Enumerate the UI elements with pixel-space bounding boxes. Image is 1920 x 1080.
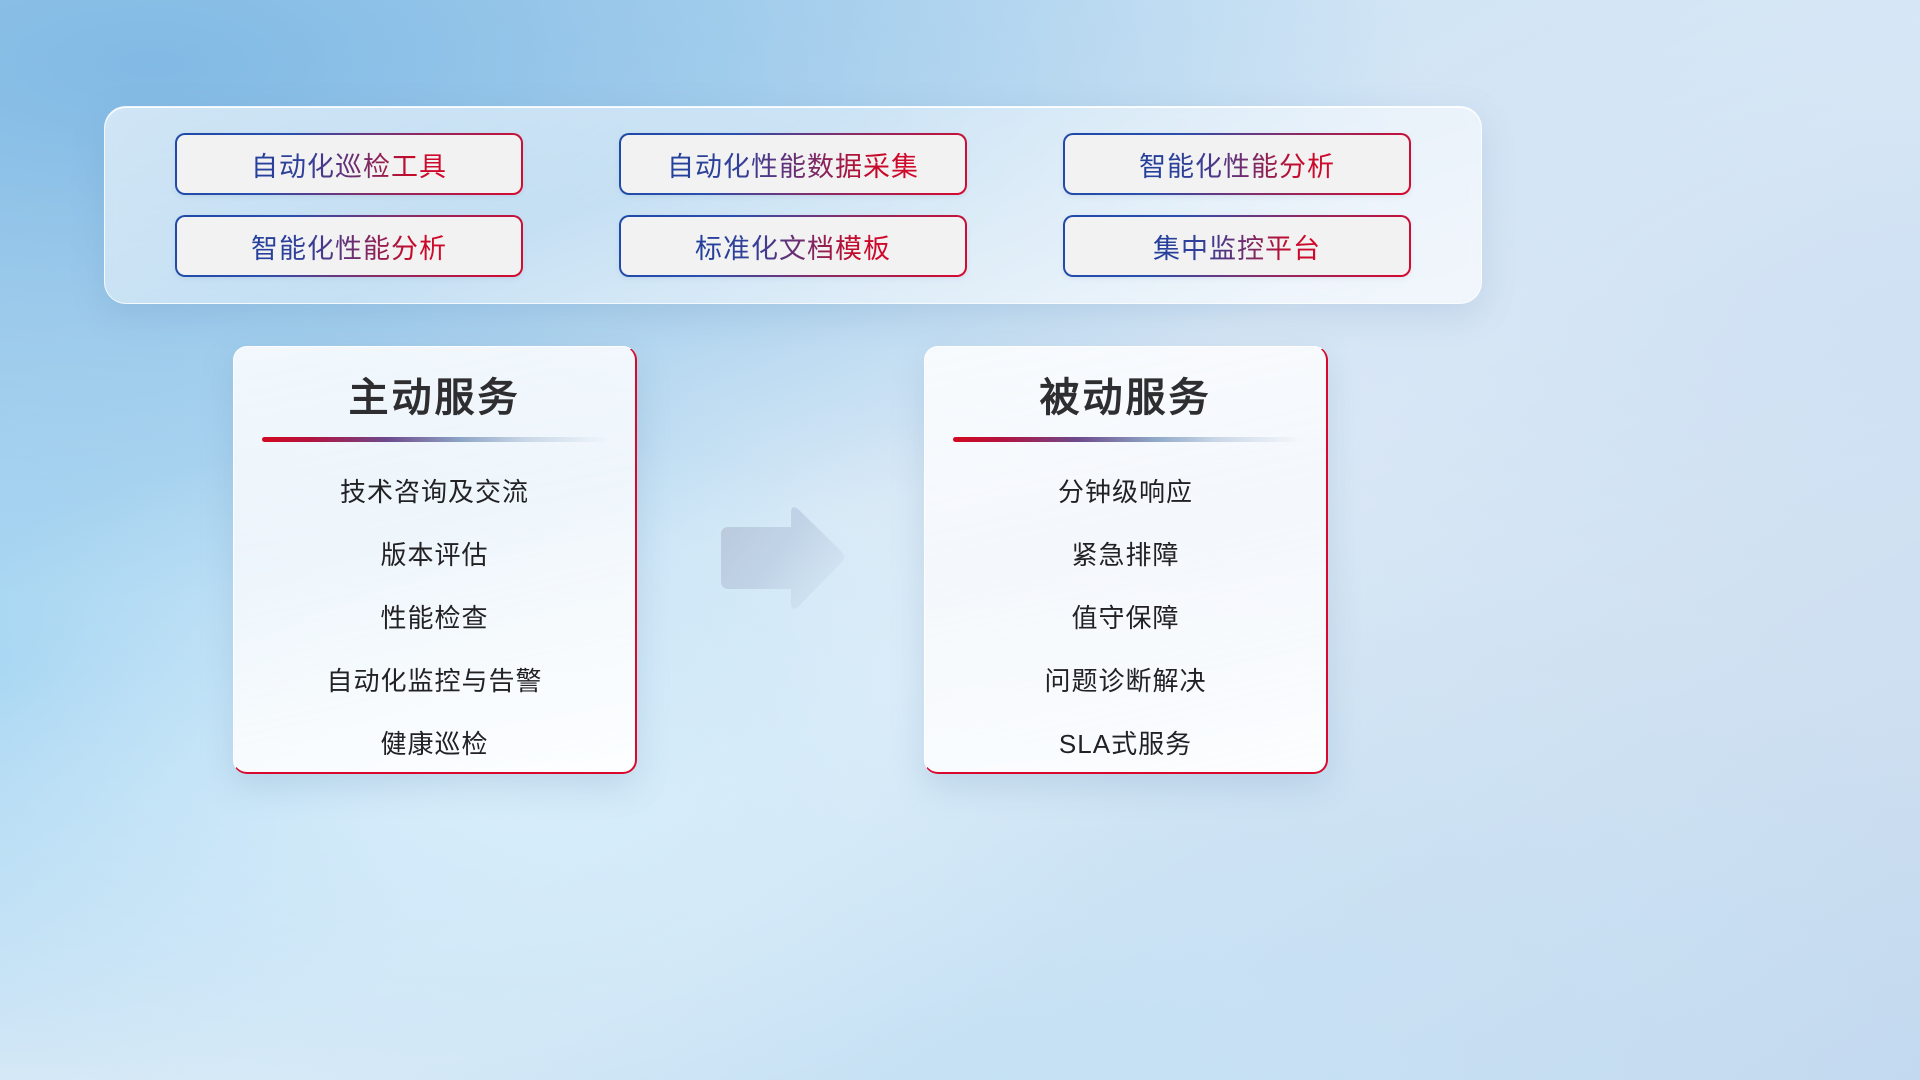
capability-chip-label: 智能化性能分析 xyxy=(1139,145,1335,184)
capability-chip-label: 自动化性能数据采集 xyxy=(667,145,919,184)
capability-row-2: 智能化性能分析 标准化文档模板 集中监控平台 xyxy=(175,215,1411,277)
capability-chip-label: 智能化性能分析 xyxy=(251,227,447,266)
list-item: 性能检查 xyxy=(380,598,488,635)
capability-row-1: 自动化巡检工具 自动化性能数据采集 智能化性能分析 xyxy=(175,133,1411,195)
service-card-divider xyxy=(953,437,1299,442)
service-item-list: 分钟级响应 紧急排障 值守保障 问题诊断解决 SLA式服务 xyxy=(925,472,1326,761)
capability-chip-intelligent-performance-analysis-1[interactable]: 智能化性能分析 xyxy=(1063,133,1411,195)
list-item: 版本评估 xyxy=(380,535,488,572)
capability-chip-centralized-monitoring-platform[interactable]: 集中监控平台 xyxy=(1063,215,1411,277)
service-item-list: 技术咨询及交流 版本评估 性能检查 自动化监控与告警 健康巡检 xyxy=(234,472,635,761)
capability-chip-standardized-document-template[interactable]: 标准化文档模板 xyxy=(619,215,967,277)
capability-chip-automated-inspection-tool[interactable]: 自动化巡检工具 xyxy=(175,133,523,195)
service-card-title: 主动服务 xyxy=(234,373,635,423)
capability-chip-intelligent-performance-analysis-2[interactable]: 智能化性能分析 xyxy=(175,215,523,277)
service-card-reactive: 被动服务 分钟级响应 紧急排障 值守保障 问题诊断解决 SLA式服务 xyxy=(924,346,1328,774)
list-item: 问题诊断解决 xyxy=(1044,661,1206,698)
list-item: 健康巡检 xyxy=(380,724,488,761)
capability-chip-automated-performance-data-collection[interactable]: 自动化性能数据采集 xyxy=(619,133,967,195)
right-arrow-icon xyxy=(713,503,849,613)
capability-chip-label: 自动化巡检工具 xyxy=(251,145,447,184)
service-card-divider xyxy=(262,437,608,442)
list-item: SLA式服务 xyxy=(1059,724,1192,761)
list-item: 分钟级响应 xyxy=(1058,472,1193,509)
capability-chip-label: 集中监控平台 xyxy=(1153,227,1321,266)
list-item: 技术咨询及交流 xyxy=(340,472,529,509)
service-card-proactive: 主动服务 技术咨询及交流 版本评估 性能检查 自动化监控与告警 健康巡检 xyxy=(233,346,637,774)
diagram-canvas: 自动化巡检工具 自动化性能数据采集 智能化性能分析 智能化性能分析 标准化文档模… xyxy=(0,0,1920,1080)
list-item: 紧急排障 xyxy=(1071,535,1179,572)
list-item: 值守保障 xyxy=(1071,598,1179,635)
capabilities-panel: 自动化巡检工具 自动化性能数据采集 智能化性能分析 智能化性能分析 标准化文档模… xyxy=(104,106,1482,304)
capability-chip-label: 标准化文档模板 xyxy=(695,227,891,266)
list-item: 自动化监控与告警 xyxy=(326,661,542,698)
service-card-title: 被动服务 xyxy=(925,373,1326,423)
